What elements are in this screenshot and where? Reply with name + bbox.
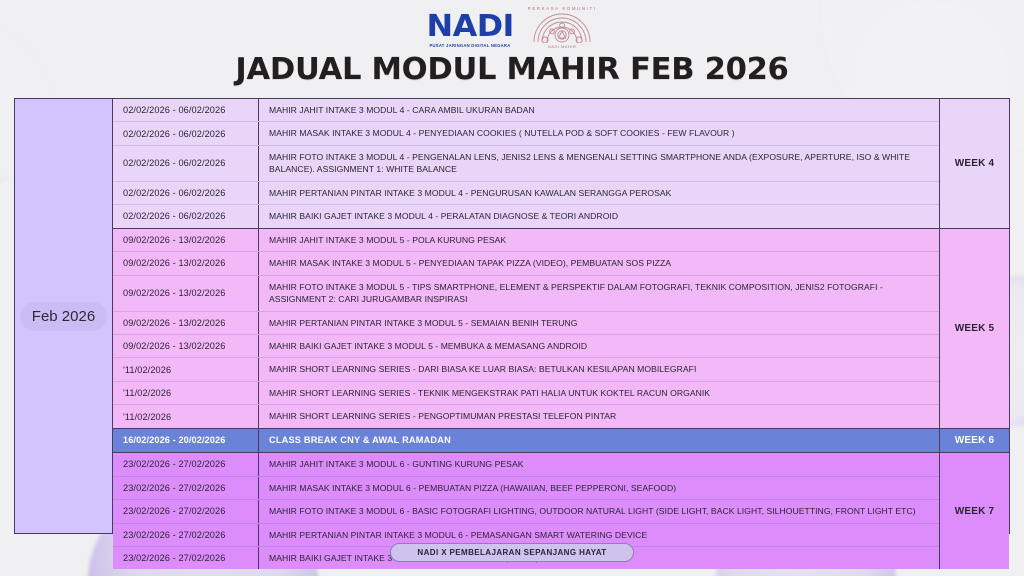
- table-row: 09/02/2026 - 13/02/2026MAHIR MASAK INTAK…: [113, 252, 939, 275]
- gear-icon: [532, 11, 592, 43]
- row-date-cell: 02/02/2026 - 06/02/2026: [113, 122, 259, 144]
- row-date-cell: 09/02/2026 - 13/02/2026: [113, 229, 259, 251]
- page-header: NADI PUSAT JARINGAN DIGITAL NEGARA PERKA…: [0, 0, 1024, 96]
- row-date-cell: 02/02/2026 - 06/02/2026: [113, 146, 259, 181]
- row-module-cell: MAHIR BAIKI GAJET INTAKE 3 MODUL 5 - MEM…: [259, 335, 939, 357]
- table-row: 02/02/2026 - 06/02/2026MAHIR JAHIT INTAK…: [113, 99, 939, 122]
- week-rows: 16/02/2026 - 20/02/2026CLASS BREAK CNY &…: [113, 429, 939, 452]
- row-date-cell: '11/02/2026: [113, 405, 259, 427]
- week-label: WEEK 6: [939, 429, 1009, 452]
- row-date-cell: 09/02/2026 - 13/02/2026: [113, 252, 259, 274]
- month-label: Feb 2026: [20, 302, 107, 331]
- row-module-cell: MAHIR BAIKI GAJET INTAKE 3 MODUL 4 - PER…: [259, 205, 939, 227]
- row-module-cell: MAHIR JAHIT INTAKE 3 MODUL 4 - CARA AMBI…: [259, 99, 939, 121]
- table-row: 02/02/2026 - 06/02/2026MAHIR MASAK INTAK…: [113, 122, 939, 145]
- perkasa-komuniti-logo: PERKASA KOMUNITI NADI MAHIR: [529, 6, 595, 48]
- week-block: 09/02/2026 - 13/02/2026MAHIR JAHIT INTAK…: [113, 229, 1009, 429]
- week-block: 02/02/2026 - 06/02/2026MAHIR JAHIT INTAK…: [113, 99, 1009, 229]
- week-rows: 09/02/2026 - 13/02/2026MAHIR JAHIT INTAK…: [113, 229, 939, 428]
- table-row: '11/02/2026MAHIR SHORT LEARNING SERIES -…: [113, 405, 939, 427]
- row-module-cell: CLASS BREAK CNY & AWAL RAMADAN: [259, 429, 939, 452]
- table-row: 23/02/2026 - 27/02/2026MAHIR MASAK INTAK…: [113, 477, 939, 500]
- nadi-logo-tagline: PUSAT JARINGAN DIGITAL NEGARA: [429, 44, 510, 48]
- nadi-logo: NADI PUSAT JARINGAN DIGITAL NEGARA: [429, 12, 511, 48]
- table-row: 09/02/2026 - 13/02/2026MAHIR BAIKI GAJET…: [113, 335, 939, 358]
- row-date-cell: '11/02/2026: [113, 382, 259, 404]
- row-module-cell: MAHIR MASAK INTAKE 3 MODUL 5 - PENYEDIAA…: [259, 252, 939, 274]
- weeks-column: 02/02/2026 - 06/02/2026MAHIR JAHIT INTAK…: [113, 99, 1009, 533]
- row-date-cell: 16/02/2026 - 20/02/2026: [113, 429, 259, 452]
- footer-tagline: NADI X PEMBELAJARAN SEPANJANG HAYAT: [390, 543, 633, 562]
- table-row: '11/02/2026MAHIR SHORT LEARNING SERIES -…: [113, 358, 939, 381]
- row-module-cell: MAHIR FOTO INTAKE 3 MODUL 4 - PENGENALAN…: [259, 146, 939, 181]
- row-module-cell: MAHIR PERTANIAN PINTAR INTAKE 3 MODUL 5 …: [259, 312, 939, 334]
- row-module-cell: MAHIR SHORT LEARNING SERIES - TEKNIK MEN…: [259, 382, 939, 404]
- page-footer: NADI X PEMBELAJARAN SEPANJANG HAYAT: [0, 543, 1024, 562]
- table-row: 02/02/2026 - 06/02/2026MAHIR BAIKI GAJET…: [113, 205, 939, 227]
- table-row: 09/02/2026 - 13/02/2026MAHIR FOTO INTAKE…: [113, 276, 939, 312]
- week-label: WEEK 5: [939, 229, 1009, 428]
- table-row: 16/02/2026 - 20/02/2026CLASS BREAK CNY &…: [113, 429, 939, 452]
- week-label: WEEK 4: [939, 99, 1009, 228]
- row-module-cell: MAHIR FOTO INTAKE 3 MODUL 5 - TIPS SMART…: [259, 276, 939, 311]
- row-module-cell: MAHIR JAHIT INTAKE 3 MODUL 6 - GUNTING K…: [259, 453, 939, 475]
- week-rows: 02/02/2026 - 06/02/2026MAHIR JAHIT INTAK…: [113, 99, 939, 228]
- table-row: 02/02/2026 - 06/02/2026MAHIR FOTO INTAKE…: [113, 146, 939, 182]
- table-row: 23/02/2026 - 27/02/2026MAHIR FOTO INTAKE…: [113, 500, 939, 523]
- row-module-cell: MAHIR MASAK INTAKE 3 MODUL 6 - PEMBUATAN…: [259, 477, 939, 499]
- schedule-table: Feb 2026 02/02/2026 - 06/02/2026MAHIR JA…: [14, 98, 1010, 534]
- row-date-cell: '11/02/2026: [113, 358, 259, 380]
- row-date-cell: 09/02/2026 - 13/02/2026: [113, 312, 259, 334]
- table-row: 23/02/2026 - 27/02/2026MAHIR JAHIT INTAK…: [113, 453, 939, 476]
- page-title: JADUAL MODUL MAHIR FEB 2026: [0, 52, 1024, 87]
- table-row: 09/02/2026 - 13/02/2026MAHIR JAHIT INTAK…: [113, 229, 939, 252]
- row-module-cell: MAHIR SHORT LEARNING SERIES - PENGOPTIMU…: [259, 405, 939, 427]
- perkasa-komuniti-logo-bottom-text: NADI MAHIR: [548, 45, 576, 49]
- row-date-cell: 23/02/2026 - 27/02/2026: [113, 500, 259, 522]
- table-row: 02/02/2026 - 06/02/2026MAHIR PERTANIAN P…: [113, 182, 939, 205]
- row-date-cell: 23/02/2026 - 27/02/2026: [113, 453, 259, 475]
- row-date-cell: 09/02/2026 - 13/02/2026: [113, 335, 259, 357]
- row-module-cell: MAHIR JAHIT INTAKE 3 MODUL 5 - POLA KURU…: [259, 229, 939, 251]
- row-module-cell: MAHIR PERTANIAN PINTAR INTAKE 3 MODUL 4 …: [259, 182, 939, 204]
- row-date-cell: 02/02/2026 - 06/02/2026: [113, 205, 259, 227]
- row-date-cell: 02/02/2026 - 06/02/2026: [113, 182, 259, 204]
- month-column: Feb 2026: [15, 99, 113, 533]
- row-module-cell: MAHIR FOTO INTAKE 3 MODUL 6 - BASIC FOTO…: [259, 500, 939, 522]
- row-date-cell: 23/02/2026 - 27/02/2026: [113, 477, 259, 499]
- table-row: '11/02/2026MAHIR SHORT LEARNING SERIES -…: [113, 382, 939, 405]
- row-date-cell: 02/02/2026 - 06/02/2026: [113, 99, 259, 121]
- row-date-cell: 09/02/2026 - 13/02/2026: [113, 276, 259, 311]
- table-row: 09/02/2026 - 13/02/2026MAHIR PERTANIAN P…: [113, 312, 939, 335]
- row-module-cell: MAHIR MASAK INTAKE 3 MODUL 4 - PENYEDIAA…: [259, 122, 939, 144]
- logo-row: NADI PUSAT JARINGAN DIGITAL NEGARA PERKA…: [0, 0, 1024, 48]
- week-block: 16/02/2026 - 20/02/2026CLASS BREAK CNY &…: [113, 429, 1009, 453]
- nadi-logo-wordmark: NADI: [426, 12, 513, 42]
- row-module-cell: MAHIR SHORT LEARNING SERIES - DARI BIASA…: [259, 358, 939, 380]
